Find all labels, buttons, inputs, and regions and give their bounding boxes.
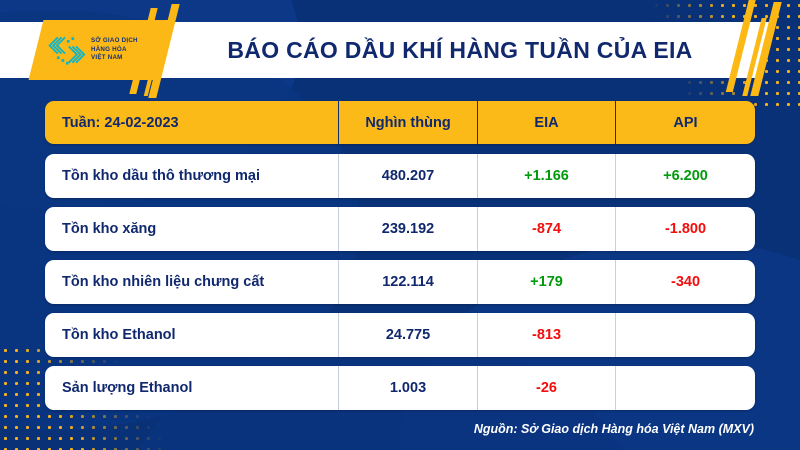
infographic-canvas: SỞ GIAO DỊCH HÀNG HÓA VIỆT NAM BÁO CÁO D… — [0, 0, 800, 450]
page-title: BÁO CÁO DẦU KHÍ HÀNG TUẦN CỦA EIA — [227, 37, 692, 64]
data-table: Tuần: 24-02-2023 Nghìn thùng EIA API Tồn… — [45, 101, 755, 419]
row-value-unit: 480.207 — [338, 154, 477, 198]
column-header-eia: EIA — [477, 101, 615, 144]
row-label: Tồn kho nhiên liệu chưng cất — [45, 260, 338, 304]
column-header-week: Tuần: 24-02-2023 — [45, 101, 338, 144]
table-row: Tồn kho dầu thô thương mại 480.207 +1.16… — [45, 154, 755, 198]
row-value-eia: +1.166 — [477, 154, 615, 198]
logo: SỞ GIAO DỊCH HÀNG HÓA VIỆT NAM — [36, 20, 166, 80]
row-value-unit: 24.775 — [338, 313, 477, 357]
row-value-eia: -874 — [477, 207, 615, 251]
column-header-api: API — [615, 101, 755, 144]
row-value-eia: -813 — [477, 313, 615, 357]
logo-text-line-1: SỞ GIAO DỊCH — [91, 37, 138, 45]
mxv-maze-logo-icon — [46, 33, 86, 67]
row-value-unit: 122.114 — [338, 260, 477, 304]
table-row: Tồn kho xăng 239.192 -874 -1.800 — [45, 207, 755, 251]
row-label: Sản lượng Ethanol — [45, 366, 338, 410]
row-value-unit: 1.003 — [338, 366, 477, 410]
logo-text-line-2: HÀNG HÓA — [91, 46, 138, 54]
row-value-api — [615, 366, 755, 410]
logo-text: SỞ GIAO DỊCH HÀNG HÓA VIỆT NAM — [91, 37, 138, 62]
logo-text-line-3: VIỆT NAM — [91, 54, 138, 62]
table-header-row: Tuần: 24-02-2023 Nghìn thùng EIA API — [45, 101, 755, 144]
row-value-eia: +179 — [477, 260, 615, 304]
row-label: Tồn kho Ethanol — [45, 313, 338, 357]
page-title-container: BÁO CÁO DẦU KHÍ HÀNG TUẦN CỦA EIA — [150, 22, 770, 78]
table-row: Tồn kho Ethanol 24.775 -813 — [45, 313, 755, 357]
row-value-api: +6.200 — [615, 154, 755, 198]
column-header-unit: Nghìn thùng — [338, 101, 477, 144]
row-value-api: -1.800 — [615, 207, 755, 251]
source-note: Nguồn: Sở Giao dịch Hàng hóa Việt Nam (M… — [474, 422, 754, 436]
row-label: Tồn kho xăng — [45, 207, 338, 251]
table-row: Tồn kho nhiên liệu chưng cất 122.114 +17… — [45, 260, 755, 304]
row-label: Tồn kho dầu thô thương mại — [45, 154, 338, 198]
row-value-api: -340 — [615, 260, 755, 304]
row-value-eia: -26 — [477, 366, 615, 410]
row-value-api — [615, 313, 755, 357]
row-value-unit: 239.192 — [338, 207, 477, 251]
table-row: Sản lượng Ethanol 1.003 -26 — [45, 366, 755, 410]
